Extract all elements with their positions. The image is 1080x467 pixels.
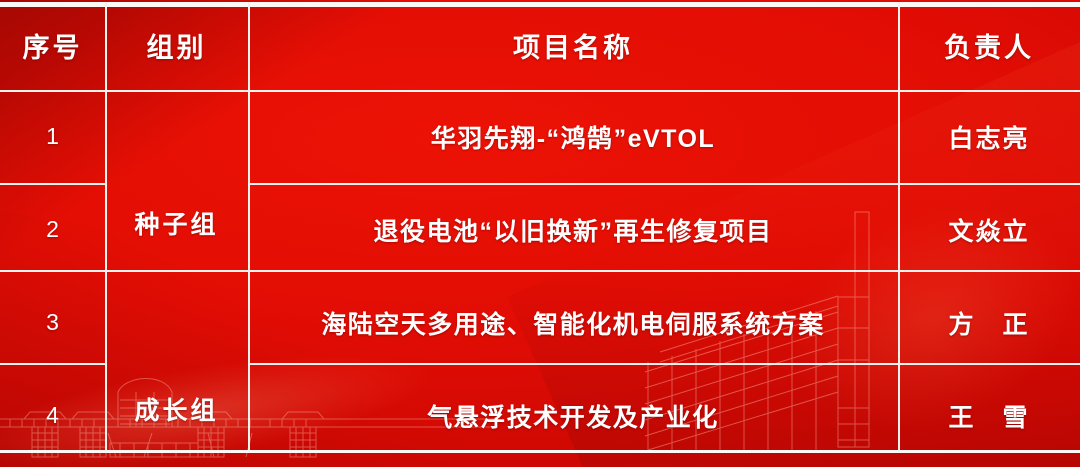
column-header-group-label: 组别 [147,26,207,65]
cell-seq: 1 [0,90,105,183]
cell-seq: 4 [0,369,105,462]
cell-owner-value: 文焱立 [948,212,1029,248]
cell-group-seed: 种子组 [105,90,248,276]
column-header-owner-label: 负责人 [944,26,1034,65]
cell-owner-value: 方 正 [948,305,1029,341]
cell-project-name-value: 气悬浮技术开发及产业化 [427,398,719,434]
cell-seq-value: 2 [46,216,59,243]
cell-owner: 方 正 [898,276,1080,369]
table-row: 3 成长组 海陆空天多用途、智能化机电伺服系统方案 方 正 [0,276,1080,369]
header-row: 序号 组别 项目名称 负责人 [0,0,1080,90]
column-header-group: 组别 [105,0,248,90]
cell-project-name: 海陆空天多用途、智能化机电伺服系统方案 [248,276,898,369]
cell-owner: 白志亮 [898,90,1080,183]
column-header-seq-label: 序号 [23,26,83,65]
cell-project-name: 华羽先翔-“鸿鹄”eVTOL [248,90,898,183]
column-header-name: 项目名称 [248,0,898,90]
column-header-owner: 负责人 [898,0,1080,90]
table-body: 1 种子组 华羽先翔-“鸿鹄”eVTOL 白志亮 2 [0,90,1080,462]
cell-project-name: 退役电池“以旧换新”再生修复项目 [248,183,898,276]
cell-seq-value: 1 [46,123,59,150]
cell-project-name-value: 退役电池“以旧换新”再生修复项目 [373,212,772,248]
column-header-name-label: 项目名称 [513,26,633,65]
cell-seq: 3 [0,276,105,369]
award-table-screenshot: 序号 组别 项目名称 负责人 1 [0,0,1080,467]
cell-owner: 文焱立 [898,183,1080,276]
cell-owner-value: 王 雪 [948,398,1029,434]
cell-owner-value: 白志亮 [948,119,1029,155]
cell-project-name-value: 海陆空天多用途、智能化机电伺服系统方案 [321,305,825,341]
cell-seq-value: 3 [46,309,59,336]
table-container: 序号 组别 项目名称 负责人 1 [0,0,1080,467]
column-header-seq: 序号 [0,0,105,90]
cell-group-growth: 成长组 [105,276,248,462]
cell-seq-value: 4 [46,402,59,429]
cell-group-value: 种子组 [134,205,218,241]
cell-owner: 王 雪 [898,369,1080,462]
cell-project-name: 气悬浮技术开发及产业化 [248,369,898,462]
table-row: 1 种子组 华羽先翔-“鸿鹄”eVTOL 白志亮 [0,90,1080,183]
cell-project-name-value: 华羽先翔-“鸿鹄”eVTOL [431,119,715,155]
award-projects-table: 序号 组别 项目名称 负责人 1 [0,0,1080,462]
cell-group-value: 成长组 [134,391,218,427]
cell-seq: 2 [0,183,105,276]
table-header: 序号 组别 项目名称 负责人 [0,0,1080,90]
